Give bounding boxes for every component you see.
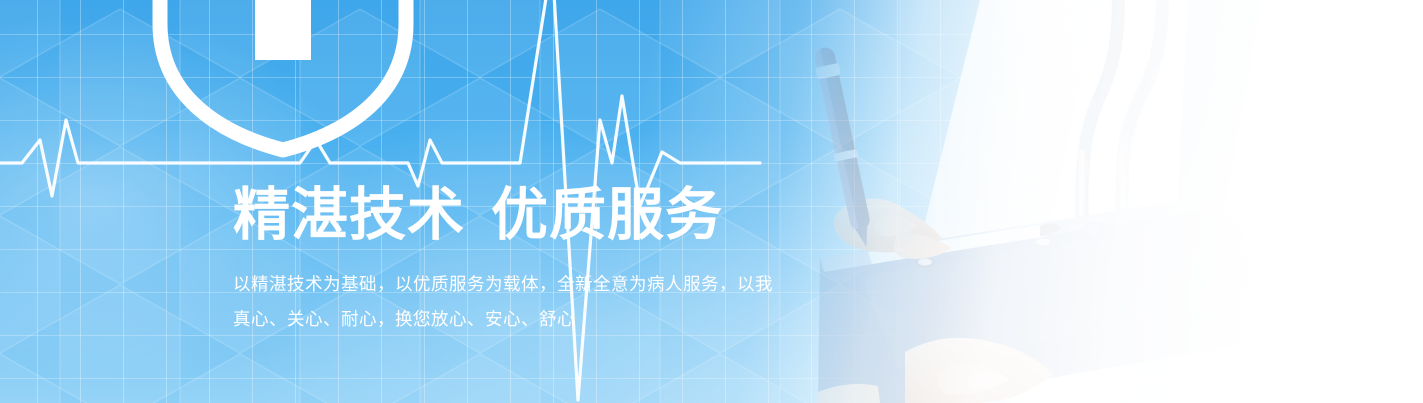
page-title: 精湛技术优质服务 (233, 186, 873, 246)
copy-block: 精湛技术优质服务 以精湛技术为基础，以优质服务为载体，全新全意为病人服务，以我 … (233, 186, 873, 337)
headline-part-1: 精湛技术 (233, 183, 465, 247)
headline-part-2: 优质服务 (491, 183, 723, 247)
subtitle-line-1: 以精湛技术为基础，以优质服务为载体，全新全意为病人服务，以我 (233, 267, 873, 302)
subtitle-block: 以精湛技术为基础，以优质服务为载体，全新全意为病人服务，以我 真心、关心、耐心，… (233, 267, 873, 337)
subtitle-line-2: 真心、关心、耐心，换您放心、安心、舒心 (233, 302, 873, 337)
medical-banner: 精湛技术优质服务 以精湛技术为基础，以优质服务为载体，全新全意为病人服务，以我 … (0, 0, 1423, 403)
